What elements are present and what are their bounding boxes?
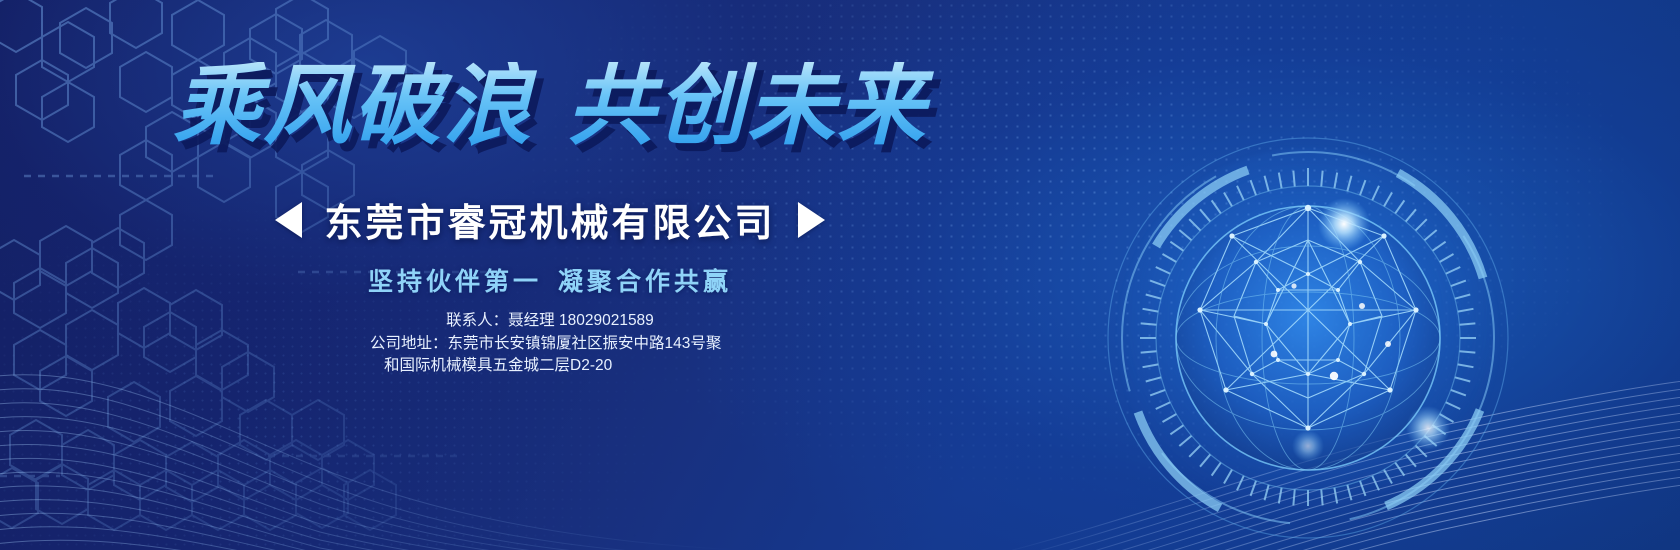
contact-person-line: 联系人：聂经理 18029021589 bbox=[0, 310, 1100, 332]
address-label: 公司地址： bbox=[370, 335, 448, 352]
tech-globe-graphic bbox=[1098, 128, 1518, 548]
tagline-part1: 坚持伙伴第一 bbox=[368, 268, 542, 296]
contact-info: 联系人：聂经理 18029021589 公司地址：东莞市长安镇锦厦社区振安中路1… bbox=[0, 310, 1100, 377]
triangle-left-icon bbox=[275, 202, 302, 238]
triangle-right-icon bbox=[798, 202, 825, 238]
tagline: 坚持伙伴第一凝聚合作共赢 bbox=[0, 262, 1100, 298]
headline: 乘风破浪共创未来 bbox=[0, 62, 1100, 150]
company-name-row: 东莞市睿冠机械有限公司 bbox=[0, 192, 1100, 247]
promotional-banner: 乘风破浪共创未来 东莞市睿冠机械有限公司 坚持伙伴第一凝聚合作共赢 联系人：聂经… bbox=[0, 0, 1680, 550]
tagline-part2: 凝聚合作共赢 bbox=[558, 268, 732, 296]
headline-part1: 乘风破浪 bbox=[173, 56, 533, 155]
company-name: 东莞市睿冠机械有限公司 bbox=[324, 192, 775, 247]
headline-part2: 共创未来 bbox=[567, 56, 927, 155]
banner-text-content: 乘风破浪共创未来 东莞市睿冠机械有限公司 坚持伙伴第一凝聚合作共赢 联系人：聂经… bbox=[0, 0, 1100, 550]
contact-address-line: 公司地址：东莞市长安镇锦厦社区振安中路143号聚和国际机械模具五金城二层D2-2… bbox=[370, 333, 730, 377]
